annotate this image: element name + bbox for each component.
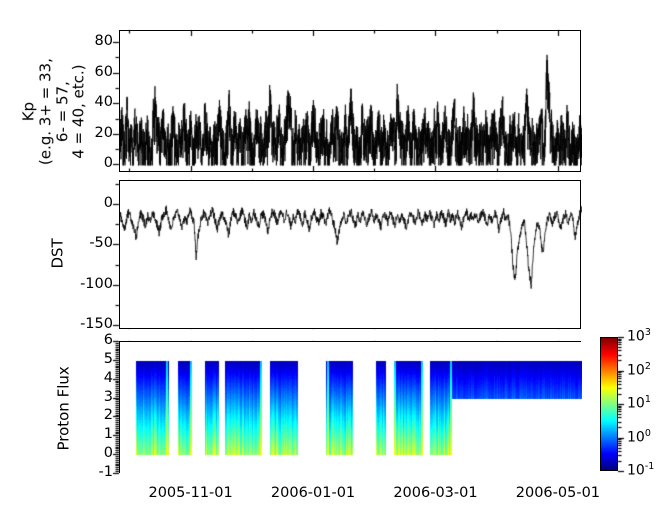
- tick-label: 60: [71, 64, 113, 80]
- colorbar-tick-label: 102: [627, 361, 651, 379]
- proton-flux-axis-label-text: Proton Flux: [56, 348, 73, 468]
- dst-plot-canvas: [120, 181, 582, 330]
- proton-flux-panel: [119, 341, 581, 473]
- kp-panel: [119, 30, 581, 172]
- proton-flux-canvas: [120, 342, 582, 474]
- tick-label: 4: [75, 370, 113, 386]
- figure-root: Kp (e.g. 3+ = 33, 6- = 57, 4 = 40, etc.)…: [0, 0, 665, 523]
- tick-label: -150: [67, 316, 113, 332]
- tick-label: 5: [75, 351, 113, 367]
- colorbar-tick-label: 10-1: [627, 461, 654, 479]
- dst-axis-label-text: DST: [50, 213, 67, 293]
- colorbar-tick-label: 101: [627, 394, 651, 412]
- tick-label: 2005-11-01: [136, 485, 246, 501]
- tick-label: 3: [75, 389, 113, 405]
- dst-panel: [119, 180, 581, 329]
- tick-label: 40: [71, 94, 113, 110]
- kp-axis-label-line1: Kp: [20, 32, 37, 192]
- tick-label: 6: [75, 332, 113, 348]
- tick-label: 2006-05-01: [503, 485, 613, 501]
- tick-label: 1: [75, 426, 113, 442]
- colorbar: [600, 337, 618, 471]
- kp-plot-canvas: [120, 31, 582, 173]
- tick-label: -50: [67, 235, 113, 251]
- tick-label: 0: [75, 445, 113, 461]
- colorbar-tick-label: 100: [627, 428, 651, 446]
- tick-label: 0: [67, 195, 113, 211]
- tick-label: 2006-01-01: [258, 485, 368, 501]
- kp-axis-label-line2: (e.g. 3+ = 33,: [37, 32, 54, 192]
- tick-label: 20: [71, 125, 113, 141]
- proton-flux-axis-label: Proton Flux: [56, 348, 73, 468]
- tick-label: 80: [71, 33, 113, 49]
- tick-label: -100: [67, 276, 113, 292]
- dst-axis-label: DST: [50, 213, 67, 293]
- tick-label: 2: [75, 407, 113, 423]
- tick-label: 2006-03-01: [380, 485, 490, 501]
- colorbar-tick-label: 103: [627, 327, 651, 345]
- tick-label: -1: [75, 464, 113, 480]
- tick-label: 0: [71, 155, 113, 171]
- kp-axis-label-line3: 6- = 57,: [54, 32, 71, 192]
